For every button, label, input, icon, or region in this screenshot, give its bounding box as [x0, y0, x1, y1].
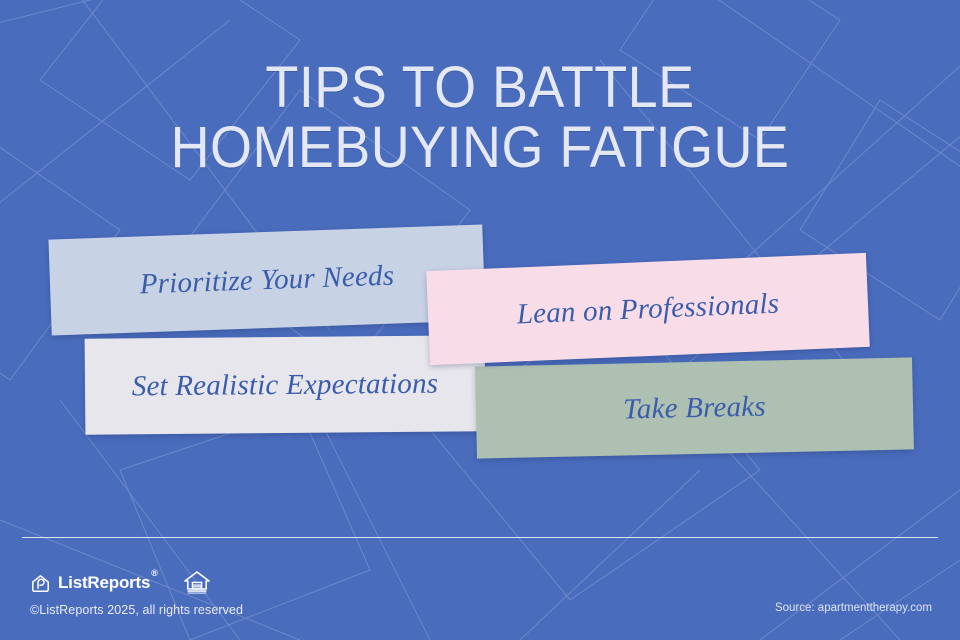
page-title: TIPS TO BATTLE HOMEBUYING FATIGUE	[0, 58, 960, 178]
tip-card-take-breaks[interactable]: Take Breaks	[475, 357, 914, 458]
infographic-canvas: TIPS TO BATTLE HOMEBUYING FATIGUE Priori…	[0, 0, 960, 640]
source-attribution: Source: apartmenttherapy.com	[775, 602, 932, 614]
registered-trademark-mark: ®	[151, 568, 157, 578]
copyright-text: ©ListReports 2025, all rights reserved	[30, 603, 243, 617]
tip-card-prioritize-your-needs[interactable]: Prioritize Your Needs	[48, 224, 485, 335]
tip-card-label: Set Realistic Expectations	[132, 367, 439, 403]
tip-card-label: Prioritize Your Needs	[139, 259, 394, 301]
brand-row: ListReports®	[30, 570, 243, 596]
tip-card-label: Take Breaks	[623, 390, 766, 426]
tip-card-label: Lean on Professionals	[516, 287, 780, 331]
brand-name-text: ListReports	[58, 573, 150, 592]
title-line-2: HOMEBUYING FATIGUE	[34, 118, 927, 178]
brand-name: ListReports®	[58, 573, 157, 593]
listreports-logo[interactable]: ListReports®	[30, 573, 157, 594]
equal-housing-opportunity-icon	[183, 570, 211, 596]
title-line-1: TIPS TO BATTLE	[34, 58, 927, 118]
listreports-house-icon	[30, 573, 51, 594]
footer-divider	[22, 537, 938, 538]
footer: ListReports® ©ListReports 2025, all righ…	[0, 560, 960, 640]
tip-card-set-realistic-expectations[interactable]: Set Realistic Expectations	[85, 335, 486, 434]
footer-branding: ListReports® ©ListReports 2025, all righ…	[30, 570, 243, 617]
tip-card-lean-on-professionals[interactable]: Lean on Professionals	[426, 253, 870, 365]
